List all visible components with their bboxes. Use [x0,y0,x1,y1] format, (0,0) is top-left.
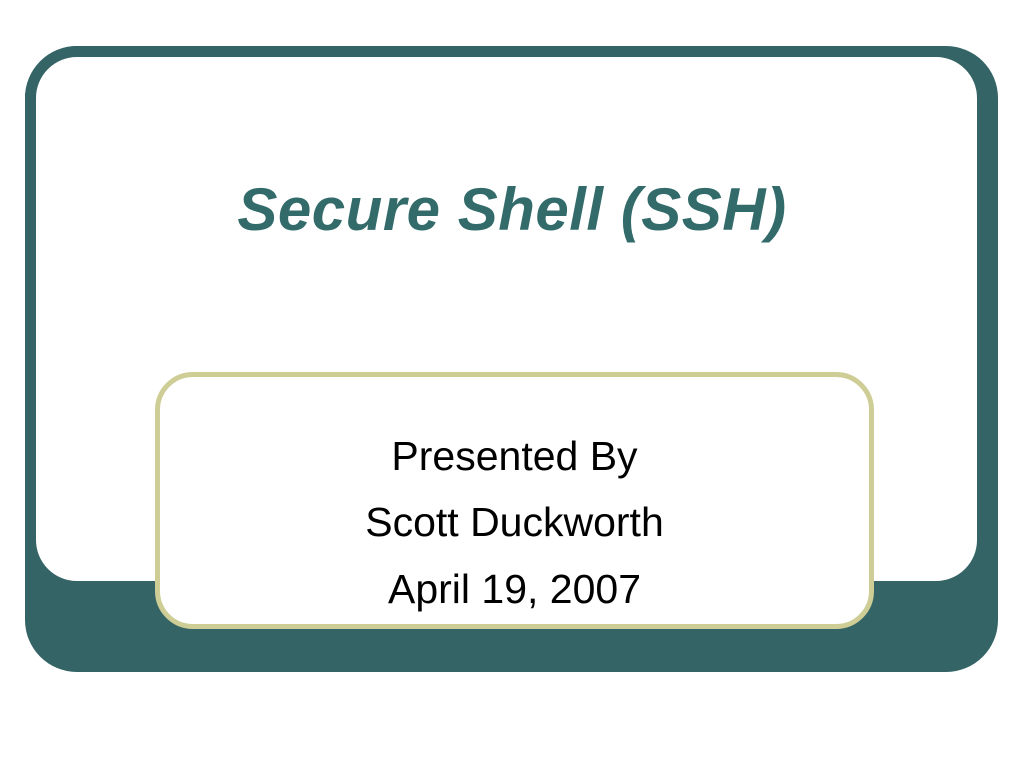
presenter-lines: Presented By Scott Duckworth April 19, 2… [160,423,869,622]
page-title: Secure Shell (SSH) [60,178,964,241]
presenter-line-date: April 19, 2007 [160,556,869,622]
presenter-line-name: Scott Duckworth [160,489,869,555]
presenter-box: Presented By Scott Duckworth April 19, 2… [155,372,874,629]
presenter-line-presented-by: Presented By [160,423,869,489]
presentation-slide: Secure Shell (SSH) Presented By Scott Du… [0,0,1024,768]
